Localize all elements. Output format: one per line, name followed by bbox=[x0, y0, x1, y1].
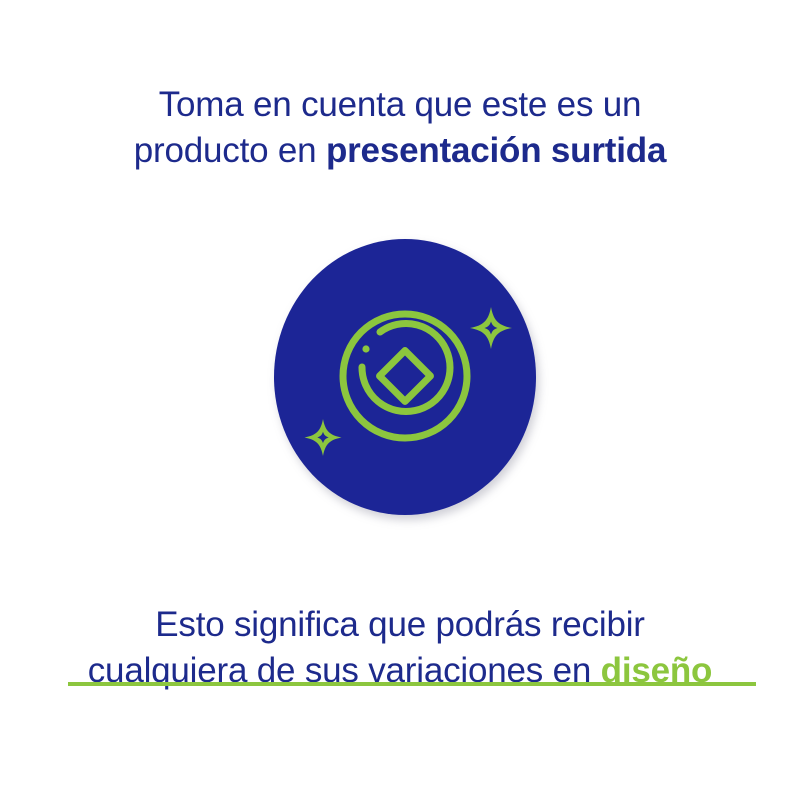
bottom-message-line-2: cualquiera de sus variaciones en diseño bbox=[0, 648, 800, 694]
top-message-line-2-prefix: producto en bbox=[134, 131, 326, 170]
sparkle-top-right-icon bbox=[470, 307, 512, 349]
badge bbox=[274, 239, 536, 515]
green-divider bbox=[68, 682, 756, 686]
center-diamond-icon bbox=[380, 351, 431, 402]
product-variation-notice: Toma en cuenta que este es un producto e… bbox=[0, 0, 800, 800]
assorted-variations-icon bbox=[274, 239, 536, 515]
sparkle-bottom-left-icon bbox=[305, 419, 342, 456]
small-dot-icon bbox=[362, 345, 369, 352]
top-message-emphasis: presentación surtida bbox=[326, 131, 666, 170]
top-message-line-2: producto en presentación surtida bbox=[0, 128, 800, 174]
bottom-message-line-1: Esto significa que podrás recibir bbox=[0, 602, 800, 648]
top-message: Toma en cuenta que este es un producto e… bbox=[0, 82, 800, 174]
top-message-line-1: Toma en cuenta que este es un bbox=[0, 82, 800, 128]
bottom-message: Esto significa que podrás recibir cualqu… bbox=[0, 602, 800, 694]
